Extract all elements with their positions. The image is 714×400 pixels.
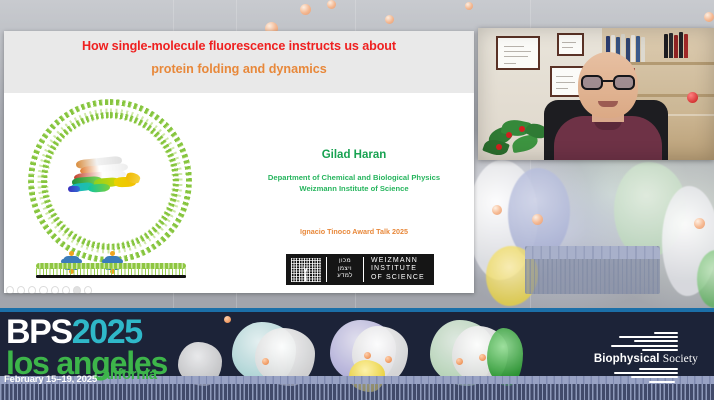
biophysical-society-logo: Biophysical Society <box>570 332 698 384</box>
slide-title-line-1: How single-molecule fluorescence instruc… <box>4 39 474 53</box>
conference-banner: BPS2025 los angeles california February … <box>0 308 714 400</box>
speaker-name: Gilad Haran <box>240 149 468 161</box>
bps-state: california <box>94 366 157 383</box>
all-slides-icon[interactable] <box>39 286 47 295</box>
ligand-dot <box>456 358 463 365</box>
banner-accent-stripe <box>0 308 714 312</box>
pen-icon[interactable] <box>28 286 36 295</box>
fluorophore-dot <box>694 218 705 229</box>
weizmann-institute-logo: מכון ויצמן למדע WEIZMANN INSTITUTE OF SC… <box>286 254 434 285</box>
affiliation-line-1: Department of Chemical and Biological Ph… <box>240 173 468 184</box>
background-lipid-bilayer <box>525 246 660 294</box>
fluorophore-dot <box>300 4 311 15</box>
society-name-bold: Biophysical <box>594 353 660 365</box>
award-talk-label: Ignacio Tinoco Award Talk 2025 <box>240 227 468 236</box>
presentation-screen: How single-molecule fluorescence instruc… <box>0 0 714 400</box>
affiliation-line-2: Weizmann Institute of Science <box>240 184 468 195</box>
hebrew-line-3: למדע <box>337 273 353 281</box>
hebrew-line-1: מכון <box>337 258 353 266</box>
weizmann-english-text: WEIZMANN INSTITUTE OF SCIENCE <box>364 254 425 285</box>
zoom-in-icon[interactable] <box>51 286 59 295</box>
institute-name-line-2: INSTITUTE <box>371 265 425 274</box>
bilayer-tails <box>36 268 186 275</box>
fluorophore-dot <box>465 2 473 10</box>
speaker-affiliation: Department of Chemical and Biological Ph… <box>240 173 468 194</box>
presentation-slide[interactable]: How single-molecule fluorescence instruc… <box>4 31 474 293</box>
weizmann-hebrew-text: מכון ויצמן למדע <box>327 254 363 285</box>
institute-name-line-3: OF SCIENCE <box>371 274 425 283</box>
glass-substrate <box>36 275 186 278</box>
end-show-icon[interactable] <box>84 286 92 295</box>
more-options-icon[interactable] <box>73 286 81 295</box>
fluorophore-dot <box>704 12 714 22</box>
ligand-dot <box>262 358 269 365</box>
ligand-dot <box>364 352 371 359</box>
ligand-dot <box>224 316 231 323</box>
ligand-dot <box>385 356 392 363</box>
ligand-dot <box>479 354 486 361</box>
protein-ribbon-cartoon <box>68 156 148 196</box>
supported-lipid-bilayer <box>36 263 186 279</box>
bps-title-line: BPS2025 <box>6 316 167 348</box>
subtitles-icon[interactable] <box>62 286 70 295</box>
logo-bars-top <box>570 332 698 353</box>
previous-slide-button[interactable] <box>6 286 14 295</box>
fluorophore-dot <box>532 214 543 225</box>
institute-name-line-1: WEIZMANN <box>371 257 425 266</box>
society-name: Biophysical Society <box>570 353 698 365</box>
bps-dates: February 15–19, 2025 <box>4 374 97 385</box>
speaker-webcam-feed[interactable] <box>478 28 714 160</box>
logo-bars-bottom <box>570 368 698 385</box>
fluorophore-dot <box>327 0 336 9</box>
next-slide-button[interactable] <box>17 286 25 295</box>
society-name-serif: Society <box>663 353 698 365</box>
fluorophore-dot <box>492 205 502 215</box>
slide-title-line-2: protein folding and dynamics <box>4 62 474 76</box>
fluorophore-dot <box>385 15 394 24</box>
webcam-vignette <box>478 28 714 160</box>
vesicle-tethered-protein-diagram <box>26 101 216 286</box>
presenter-toolbar[interactable] <box>6 285 92 296</box>
weizmann-tree-icon <box>286 254 326 285</box>
